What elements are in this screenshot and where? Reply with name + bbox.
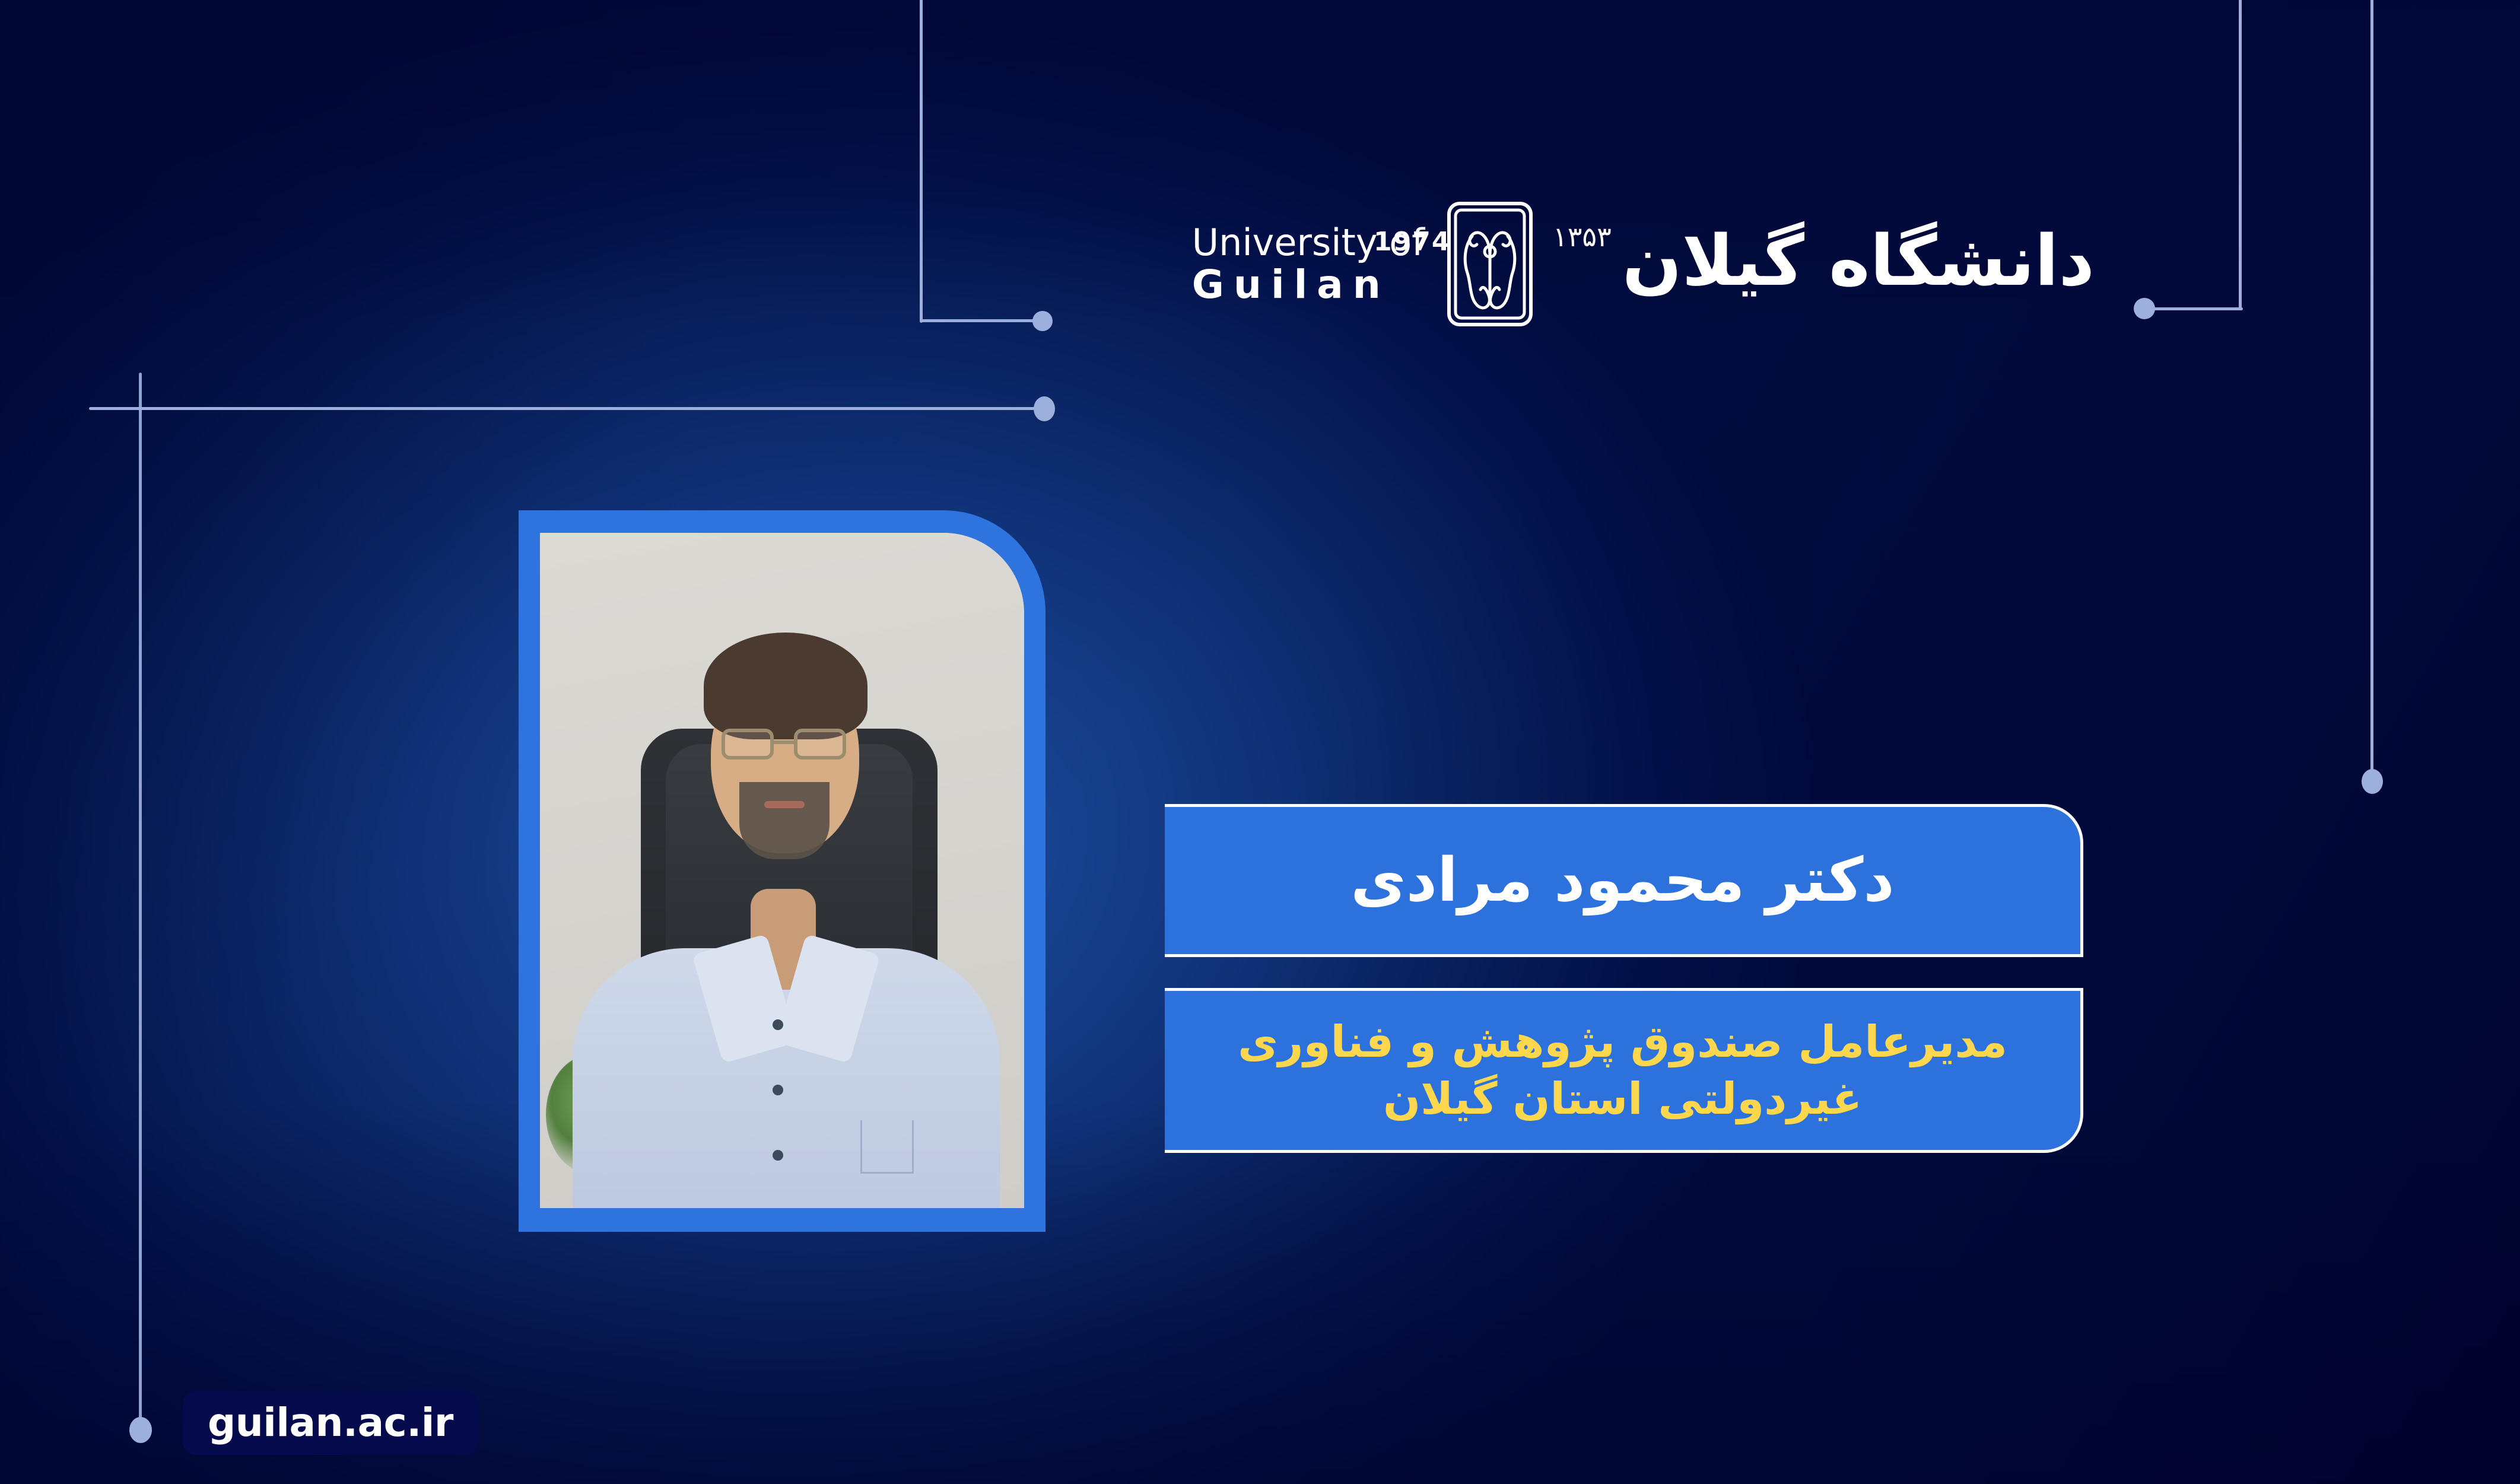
university-logo: دانشگاه گیلان ۱۳۵۳ University of Guilan bbox=[1163, 178, 2095, 350]
photo-eyeglass-right bbox=[794, 729, 846, 760]
photo-shirt-pocket bbox=[860, 1120, 914, 1174]
website-badge[interactable]: guilan.ac.ir bbox=[183, 1391, 478, 1455]
deco-line-top-right-horizontal bbox=[2143, 307, 2243, 310]
logo-year-persian: ۱۳۵۳ bbox=[1553, 221, 1612, 253]
deco-line-top-center-vertical bbox=[920, 0, 923, 323]
speaker-title: مدیرعامل صندوق پژوهش و فناوری غیردولتی ا… bbox=[1185, 1013, 2060, 1127]
deco-line-left-vertical bbox=[139, 373, 142, 1429]
logo-english-line2: Guilan bbox=[1192, 265, 1425, 304]
accent-dot-top-right bbox=[2134, 298, 2155, 319]
accent-dot-left-bottom bbox=[129, 1417, 152, 1443]
deco-line-left-horizontal bbox=[89, 407, 1050, 410]
photo-shirt-buttons bbox=[773, 1019, 783, 1208]
photo-smile bbox=[764, 801, 805, 808]
accent-dot-right-edge bbox=[2362, 769, 2383, 794]
guilan-university-emblem-icon bbox=[1446, 201, 1534, 328]
accent-dot-top-center bbox=[1032, 311, 1053, 331]
photo-eyeglass-bridge bbox=[773, 741, 796, 744]
deco-line-top-right-vertical bbox=[2239, 0, 2242, 310]
website-url: guilan.ac.ir bbox=[208, 1403, 453, 1442]
speaker-name-banner: دکتر محمود مرادی bbox=[1165, 804, 2083, 957]
photo-hair bbox=[704, 633, 867, 739]
portrait-photo bbox=[540, 533, 1024, 1208]
deco-line-right-edge bbox=[2370, 0, 2373, 773]
logo-persian-name: دانشگاه گیلان bbox=[1622, 225, 2095, 295]
photo-eyeglass-left bbox=[722, 729, 774, 760]
speaker-name: دکتر محمود مرادی bbox=[1350, 847, 1895, 914]
speaker-title-banner: مدیرعامل صندوق پژوهش و فناوری غیردولتی ا… bbox=[1165, 988, 2083, 1153]
portrait-frame bbox=[519, 510, 1046, 1232]
deco-line-top-center-horizontal bbox=[920, 319, 1044, 322]
accent-dot-left-row bbox=[1034, 396, 1055, 421]
logo-year-gregorian: 1974 bbox=[1374, 227, 1451, 257]
poster-canvas: دانشگاه گیلان ۱۳۵۳ University of Guilan … bbox=[0, 0, 2520, 1484]
photo-beard bbox=[739, 782, 830, 859]
